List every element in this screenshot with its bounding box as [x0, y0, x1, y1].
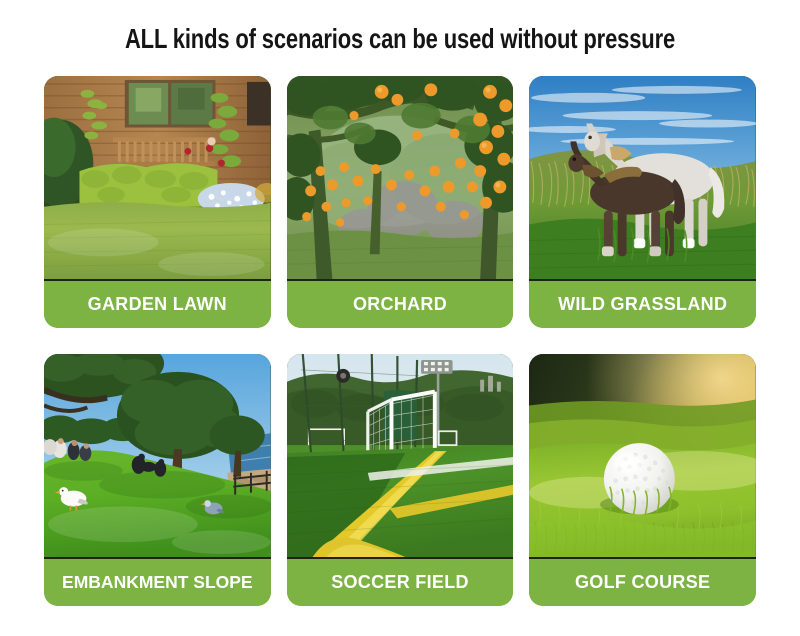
scenario-card-soccer-field[interactable]: SOCCER FIELD	[287, 354, 514, 606]
scenario-card-label: GOLF COURSE	[529, 559, 756, 606]
wild-grassland-photo	[529, 76, 756, 281]
scenario-card-garden-lawn[interactable]: GARDEN LAWN	[44, 76, 271, 328]
scenario-label-text: GOLF COURSE	[569, 572, 716, 593]
scenario-card-wild-grassland[interactable]: WILD GRASSLAND	[529, 76, 756, 328]
scenario-card-label: SOCCER FIELD	[287, 559, 514, 606]
embankment-slope-photo	[44, 354, 271, 559]
orchard-photo	[287, 76, 514, 281]
scenario-card-orchard[interactable]: ORCHARD	[287, 76, 514, 328]
scenario-label-text: WILD GRASSLAND	[552, 294, 733, 315]
scenario-label-text: EMBANKMENT SLOPE	[56, 572, 259, 593]
scenario-card-label: ORCHARD	[287, 281, 514, 328]
scenario-label-text: ORCHARD	[347, 294, 453, 315]
scenario-label-text: SOCCER FIELD	[325, 572, 475, 593]
scenario-card-golf-course[interactable]: GOLF COURSE	[529, 354, 756, 606]
scenario-showcase-page: ALL kinds of scenarios can be used witho…	[0, 0, 800, 636]
soccer-field-photo	[287, 354, 514, 559]
scenario-card-grid: GARDEN LAWN	[44, 76, 756, 606]
scenario-card-label: EMBANKMENT SLOPE	[44, 559, 271, 606]
scenario-label-text: GARDEN LAWN	[82, 294, 233, 315]
golf-course-photo	[529, 354, 756, 559]
garden-lawn-photo	[44, 76, 271, 281]
scenario-card-label: WILD GRASSLAND	[529, 281, 756, 328]
scenario-card-embankment-slope[interactable]: EMBANKMENT SLOPE	[44, 354, 271, 606]
page-title: ALL kinds of scenarios can be used witho…	[80, 22, 720, 56]
scenario-card-label: GARDEN LAWN	[44, 281, 271, 328]
